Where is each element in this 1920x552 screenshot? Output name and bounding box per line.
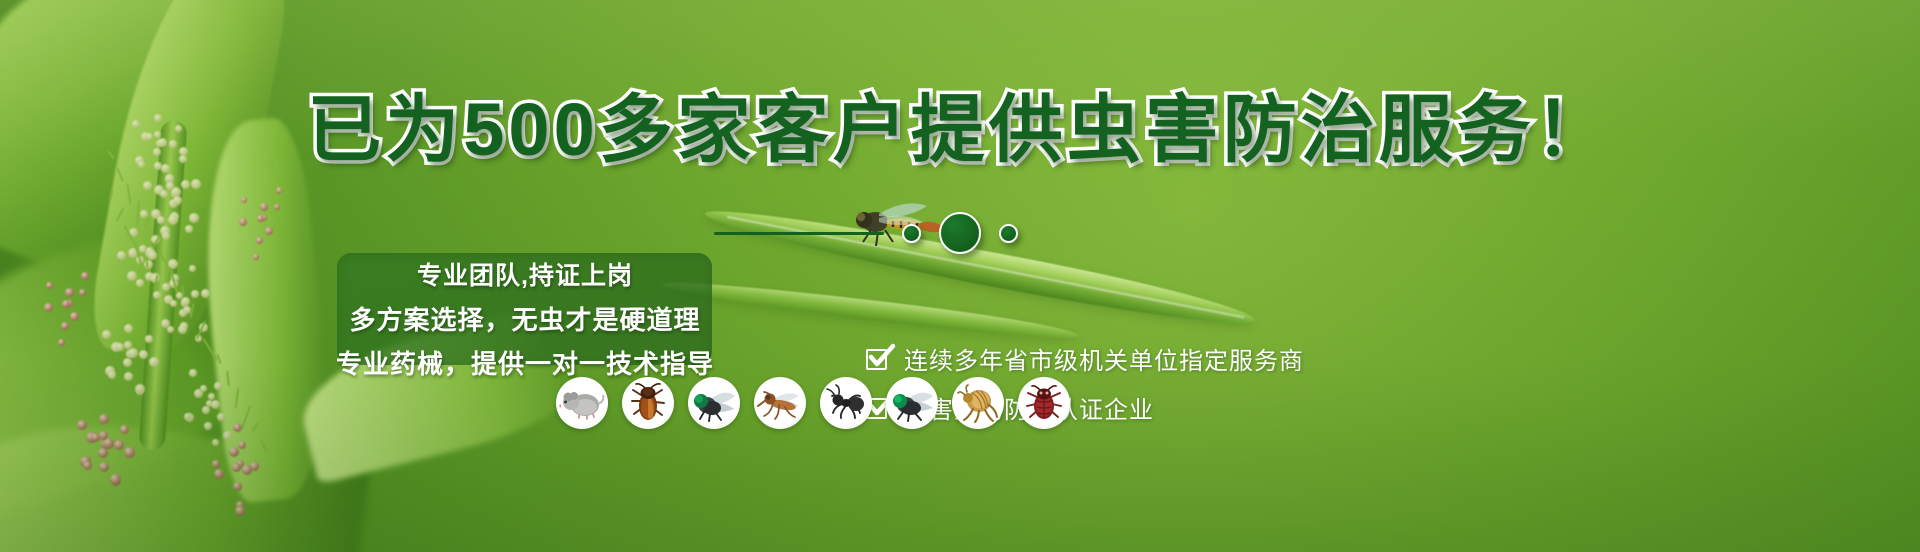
decorative-divider (0, 212, 1920, 254)
cockroach-icon[interactable] (622, 377, 674, 429)
bedbug-icon[interactable] (1018, 377, 1070, 429)
selling-points-text: 专业团队,持证上岗 多方案选择，无虫才是硬道理 专业药械，提供一对一技术指导 (330, 254, 720, 386)
flea-icon[interactable] (952, 377, 1004, 429)
divider-rule (714, 232, 884, 235)
credential-label: 连续多年省市级机关单位指定服务商 (904, 341, 1304, 376)
ant-icon[interactable] (820, 377, 872, 429)
checkbox-checked-icon (866, 347, 890, 371)
housefly-icon[interactable] (688, 377, 740, 429)
pest-icon-row (556, 377, 1070, 429)
divider-dot-large (939, 212, 981, 254)
pest-control-hero-banner: 已为500多家客户提供虫害防治服务！ 专业团队,持证上岗 多方案选择，无虫才是硬… (0, 0, 1920, 552)
page-title: 已为500多家客户提供虫害防治服务！ (0, 70, 1920, 177)
blowfly-icon[interactable] (886, 377, 938, 429)
mouse-icon[interactable] (556, 377, 608, 429)
divider-dot-small-left (902, 224, 921, 243)
selling-point-line-2: 多方案选择，无虫才是硬道理 (330, 298, 720, 342)
selling-point-line-1: 专业团队,持证上岗 (330, 254, 720, 298)
mosquito-icon[interactable] (754, 377, 806, 429)
divider-dot-small-right (999, 224, 1018, 243)
list-item: 连续多年省市级机关单位指定服务商 (866, 334, 1304, 383)
